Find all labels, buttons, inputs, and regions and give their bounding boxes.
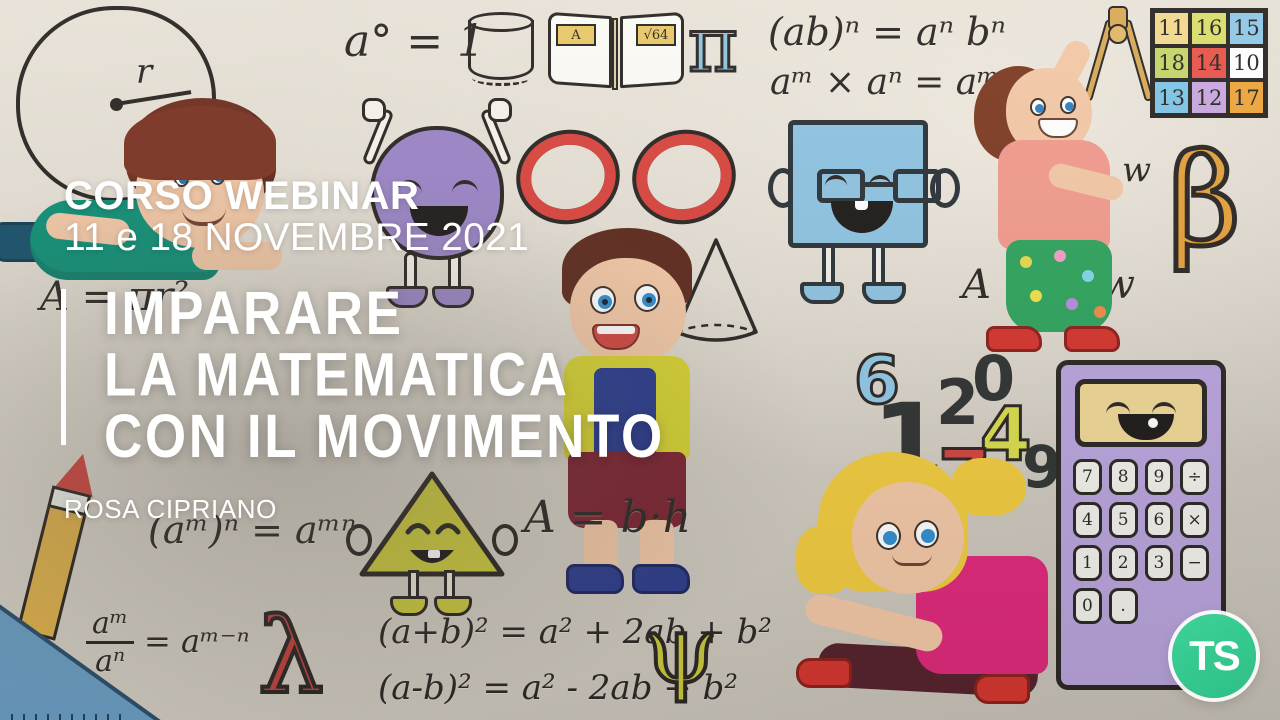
poster-text-block: CORSO WEBINAR 11 e 18 NOVEMBRE 2021 IMPA…	[64, 176, 824, 525]
headline: IMPARARE LA MATEMATICA CON IL MOVIMENTO	[104, 283, 824, 467]
headline-line-1: IMPARARE	[104, 283, 824, 344]
ts-logo-text: TS	[1189, 632, 1239, 680]
ts-logo[interactable]: TS	[1172, 614, 1256, 698]
webinar-poster: r a° = 1 A √64 π (ab)ⁿ = aⁿ bⁿ aᵐ × aⁿ =…	[0, 0, 1280, 720]
headline-line-2: LA MATEMATICA	[104, 344, 824, 405]
dates-text: 11 e 18 NOVEMBRE 2021	[64, 215, 824, 261]
author-name: ROSA CIPRIANO	[64, 494, 824, 525]
kicker-text: CORSO WEBINAR	[64, 176, 824, 217]
headline-wrapper: IMPARARE LA MATEMATICA CON IL MOVIMENTO	[64, 283, 824, 442]
headline-line-3: CON IL MOVIMENTO	[104, 406, 824, 467]
accent-bar	[61, 289, 66, 445]
